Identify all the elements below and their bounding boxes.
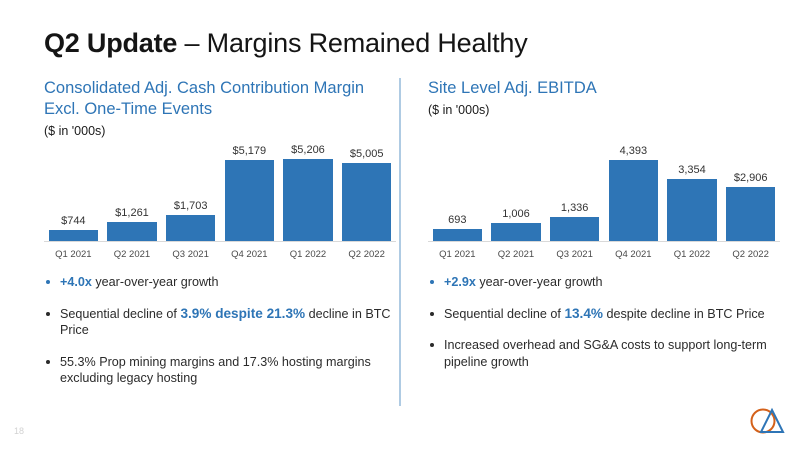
- bar-group: 4,393: [604, 150, 663, 242]
- bullet-dot-icon: [430, 280, 434, 284]
- bar: [726, 187, 775, 242]
- category-label: Q2 2022: [337, 249, 396, 260]
- bullet-text: year-over-year growth: [92, 275, 219, 289]
- left-chart-plot: $744$1,261$1,703$5,179$5,206$5,005: [44, 150, 396, 242]
- bullet-text: Sequential decline of: [444, 307, 564, 321]
- bullet-highlight: +2.9x: [444, 275, 476, 289]
- bullet-dot-icon: [430, 312, 434, 316]
- right-panel-title: Site Level Adj. EBITDA: [428, 78, 780, 99]
- page-title-strong: Q2 Update: [44, 28, 177, 58]
- bullet-dot-icon: [46, 280, 50, 284]
- page-number: 18: [14, 426, 24, 436]
- bar-group: $1,261: [103, 150, 162, 242]
- bar-value-label: $5,005: [337, 148, 396, 160]
- right-panel: Site Level Adj. EBITDA ($ in '000s) 6931…: [428, 78, 780, 370]
- bullet-text: 55.3% Prop mining margins and 17.3% host…: [60, 355, 371, 386]
- left-bar-chart: $744$1,261$1,703$5,179$5,206$5,005 Q1 20…: [44, 150, 396, 262]
- bullet-dot-icon: [430, 343, 434, 347]
- category-label: Q3 2021: [161, 249, 220, 260]
- page-title: Q2 Update – Margins Remained Healthy: [44, 26, 528, 60]
- bar: [225, 160, 274, 242]
- bullet-item: Sequential decline of 13.4% despite decl…: [428, 306, 780, 323]
- bar-group: 1,006: [487, 150, 546, 242]
- left-panel-title: Consolidated Adj. Cash Contribution Marg…: [44, 78, 396, 120]
- bullet-text: despite decline in BTC Price: [603, 307, 765, 321]
- right-chart-axis: [428, 241, 780, 242]
- right-bar-chart: 6931,0061,3364,3933,354$2,906 Q1 2021Q2 …: [428, 150, 780, 262]
- right-chart-plot: 6931,0061,3364,3933,354$2,906: [428, 150, 780, 242]
- bullet-highlight: +4.0x: [60, 275, 92, 289]
- bar-group: $2,906: [721, 150, 780, 242]
- bar-value-label: $1,261: [103, 207, 162, 219]
- category-label: Q2 2022: [721, 249, 780, 260]
- bar: [667, 179, 716, 242]
- page-title-rest: – Margins Remained Healthy: [177, 28, 527, 58]
- bullet-text: year-over-year growth: [476, 275, 603, 289]
- category-label: Q1 2021: [428, 249, 487, 260]
- bar-value-label: 1,006: [487, 208, 546, 220]
- bar-value-label: $2,906: [721, 172, 780, 184]
- bar-group: 3,354: [663, 150, 722, 242]
- bullet-highlight: 13.4%: [564, 306, 603, 321]
- bullet-highlight: 3.9% despite 21.3%: [180, 306, 305, 321]
- bullet-item: Sequential decline of 3.9% despite 21.3%…: [44, 306, 396, 339]
- category-label: Q2 2021: [487, 249, 546, 260]
- category-label: Q3 2021: [545, 249, 604, 260]
- right-panel-subtitle: ($ in '000s): [428, 101, 780, 119]
- bullet-dot-icon: [46, 360, 50, 364]
- category-label: Q2 2021: [103, 249, 162, 260]
- bar: [342, 163, 391, 242]
- bar-group: $744: [44, 150, 103, 242]
- bar-group: $1,703: [161, 150, 220, 242]
- left-panel: Consolidated Adj. Cash Contribution Marg…: [44, 78, 396, 387]
- bullet-item: +4.0x year-over-year growth: [44, 274, 396, 291]
- bullet-dot-icon: [46, 312, 50, 316]
- bar-value-label: $1,703: [161, 200, 220, 212]
- category-label: Q1 2022: [663, 249, 722, 260]
- bar: [550, 217, 599, 242]
- right-bullet-list: +2.9x year-over-year growthSequential de…: [428, 274, 780, 370]
- bullet-item: Increased overhead and SG&A costs to sup…: [428, 337, 780, 370]
- bullet-item: +2.9x year-over-year growth: [428, 274, 780, 291]
- brand-logo-icon: [748, 404, 788, 438]
- bar-group: $5,005: [337, 150, 396, 242]
- bar-value-label: 693: [428, 214, 487, 226]
- bar: [283, 159, 332, 242]
- bullet-text: Increased overhead and SG&A costs to sup…: [444, 338, 767, 369]
- bullet-text: Sequential decline of: [60, 307, 180, 321]
- bar-value-label: 1,336: [545, 202, 604, 214]
- category-label: Q4 2021: [220, 249, 279, 260]
- bar-group: 1,336: [545, 150, 604, 242]
- bar-group: $5,206: [279, 150, 338, 242]
- bar-value-label: 4,393: [604, 145, 663, 157]
- left-panel-subtitle: ($ in '000s): [44, 122, 396, 140]
- bar-value-label: $744: [44, 215, 103, 227]
- left-bullet-list: +4.0x year-over-year growthSequential de…: [44, 274, 396, 387]
- bar-value-label: 3,354: [663, 164, 722, 176]
- category-label: Q4 2021: [604, 249, 663, 260]
- bar: [491, 223, 540, 242]
- bar: [166, 215, 215, 242]
- bar-group: 693: [428, 150, 487, 242]
- category-label: Q1 2022: [279, 249, 338, 260]
- bar-group: $5,179: [220, 150, 279, 242]
- bullet-item: 55.3% Prop mining margins and 17.3% host…: [44, 354, 396, 387]
- category-label: Q1 2021: [44, 249, 103, 260]
- bar: [107, 222, 156, 242]
- bar-value-label: $5,179: [220, 145, 279, 157]
- slide-canvas: Q2 Update – Margins Remained Healthy Con…: [0, 0, 800, 450]
- left-chart-axis: [44, 241, 396, 242]
- bar-value-label: $5,206: [279, 144, 338, 156]
- panel-divider: [399, 78, 401, 406]
- bar: [609, 160, 658, 242]
